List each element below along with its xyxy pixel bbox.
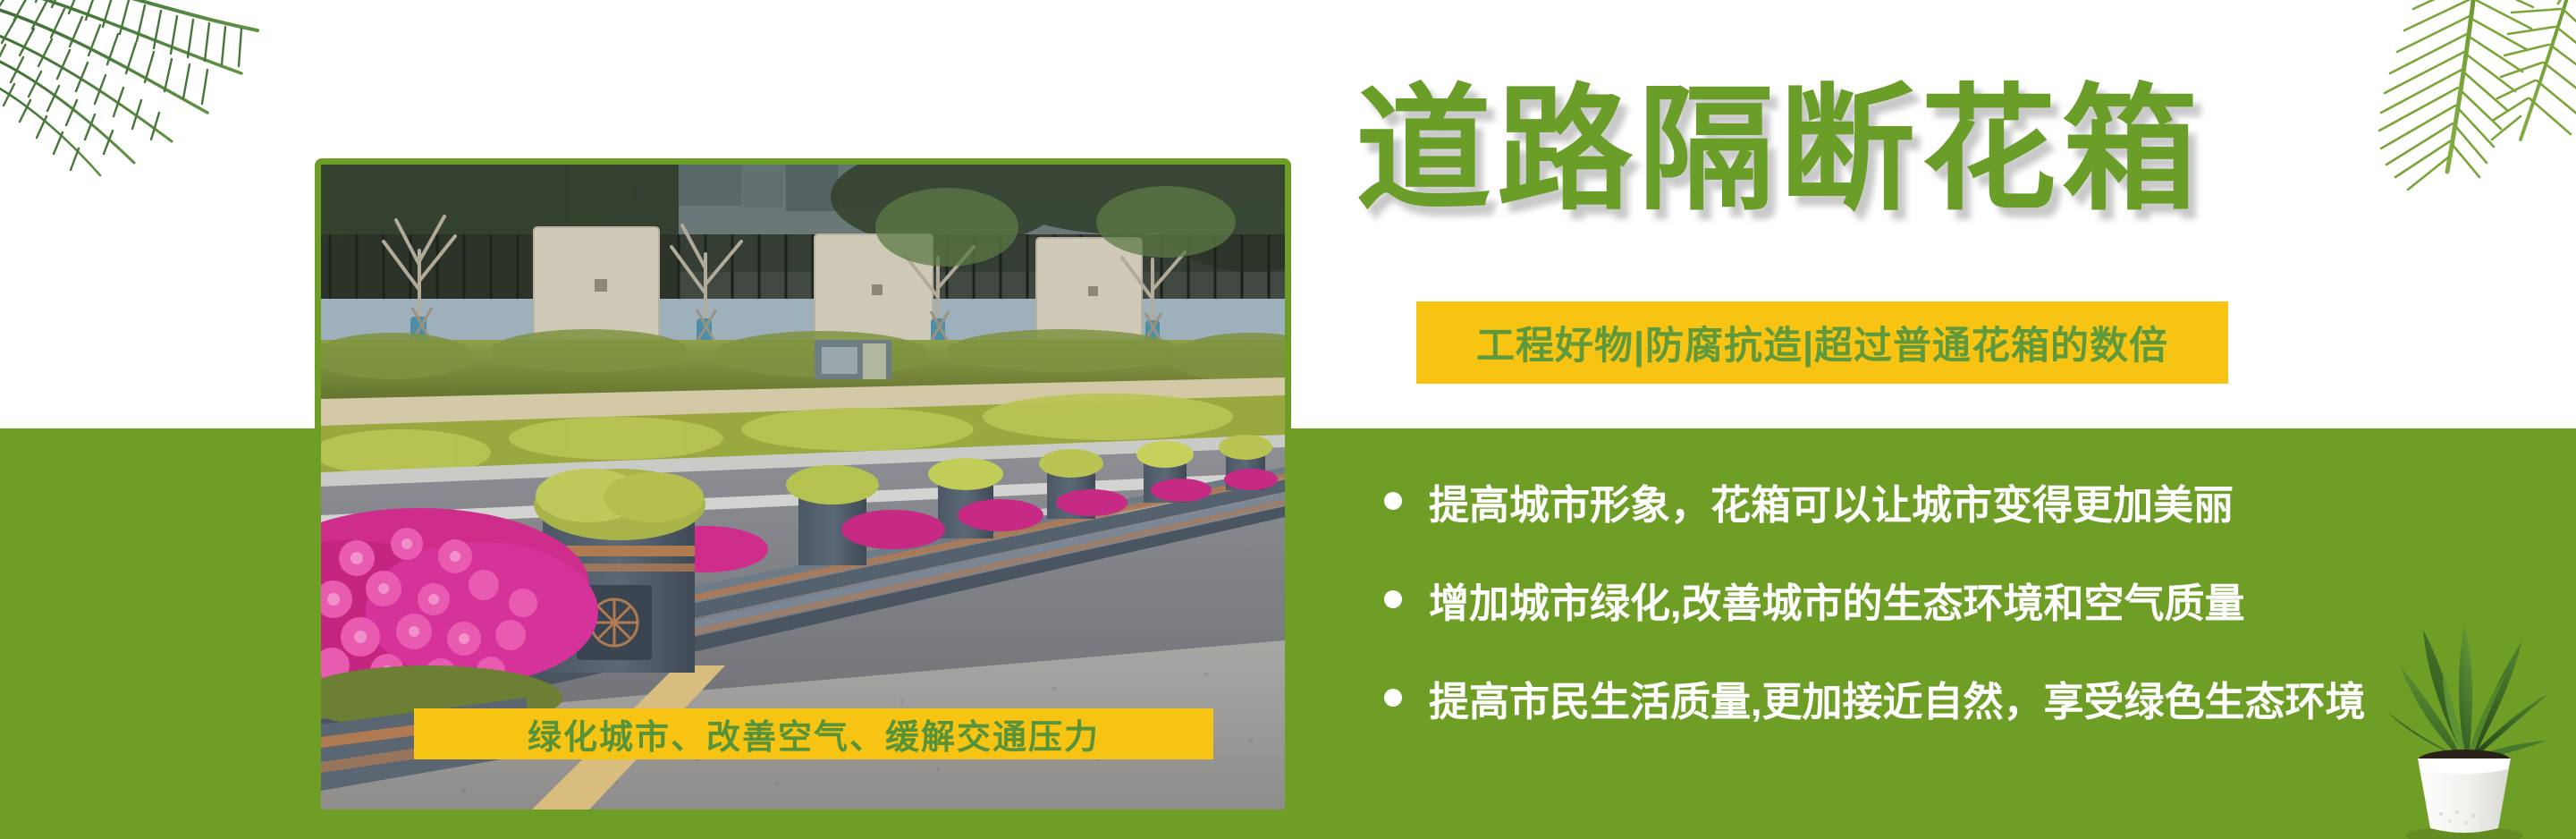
bullet-dot-icon (1384, 689, 1402, 707)
list-item: 提高市民生活质量,更加接近自然，享受绿色生态环境 (1384, 648, 2564, 747)
list-item: 增加城市绿化,改善城市的生态环境和空气质量 (1384, 550, 2564, 648)
photo-caption-text: 绿化城市、改善空气、缓解交通压力 (528, 709, 1100, 758)
list-item: 提高城市形象，花箱可以让城市变得更加美丽 (1384, 452, 2564, 550)
bullet-dot-icon (1384, 590, 1402, 608)
feature-list: 提高城市形象，花箱可以让城市变得更加美丽 增加城市绿化,改善城市的生态环境和空气… (1384, 452, 2564, 747)
subtitle-text: 工程好物|防腐抗造|超过普通花箱的数倍 (1476, 315, 2168, 370)
list-item-label: 增加城市绿化,改善城市的生态环境和空气质量 (1429, 571, 2245, 629)
road-divider-flower-box-photo: 绿化城市、改善空气、缓解交通压力 (315, 158, 1291, 816)
palm-frond-top-right-icon (2297, 0, 2576, 206)
bullet-dot-icon (1384, 492, 1402, 510)
photo-caption-banner: 绿化城市、改善空气、缓解交通压力 (414, 708, 1213, 759)
list-item-label: 提高市民生活质量,更加接近自然，享受绿色生态环境 (1429, 669, 2366, 727)
list-item-label: 提高城市形象，花箱可以让城市变得更加美丽 (1429, 472, 2234, 530)
page-title: 道路隔断花箱 (1356, 82, 2203, 218)
subtitle-badge: 工程好物|防腐抗造|超过普通花箱的数倍 (1416, 301, 2228, 384)
palm-frond-top-left-icon (0, 0, 268, 179)
promo-banner: 绿化城市、改善空气、缓解交通压力 道路隔断花箱 工程好物|防腐抗造|超过普通花箱… (0, 0, 2576, 839)
